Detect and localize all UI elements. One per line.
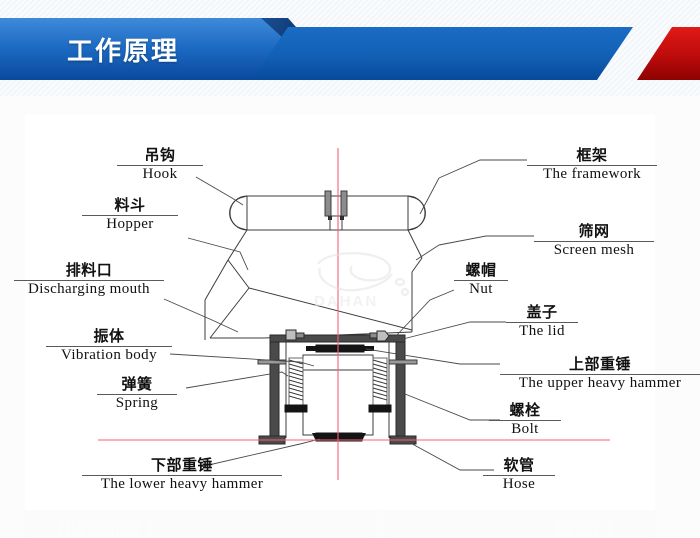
label-discharging-mouth-cn: 排料口 (14, 263, 164, 278)
footer-ghost-left: 出料口阀门 (58, 514, 153, 538)
label-hook-cn: 吊钩 (117, 148, 203, 163)
label-lid: 盖子 The lid (506, 305, 578, 339)
nut-left (286, 330, 304, 340)
page-root: 工作原理 (0, 0, 700, 538)
label-lid-cn: 盖子 (506, 305, 578, 320)
label-vibration-body: 振体 Vibration body (46, 329, 172, 363)
label-bolt-en: Bolt (489, 422, 561, 437)
label-hook-en: Hook (117, 167, 203, 182)
label-framework-en: The framework (527, 167, 657, 182)
label-nut-en: Nut (454, 282, 508, 297)
label-hose-cn: 软管 (483, 458, 555, 473)
label-lid-en: The lid (506, 324, 578, 339)
label-hopper-cn: 料斗 (82, 198, 178, 213)
label-lower-heavy-hammer-cn: 下部重锤 (82, 458, 282, 473)
label-hopper-en: Hopper (82, 217, 178, 232)
label-hook: 吊钩 Hook (117, 148, 203, 182)
label-framework: 框架 The framework (527, 148, 657, 182)
label-bolt-cn: 螺栓 (489, 403, 561, 418)
label-upper-heavy-hammer-cn: 上部重锤 (500, 357, 700, 372)
label-framework-cn: 框架 (527, 148, 657, 163)
label-discharging-mouth: 排料口 Discharging mouth (14, 263, 164, 297)
label-hopper: 料斗 Hopper (82, 198, 178, 232)
footer-ghost-right: 检查门 (555, 514, 612, 538)
label-lower-heavy-hammer: 下部重锤 The lower heavy hammer (82, 458, 282, 492)
hook-assembly (325, 191, 347, 230)
label-spring: 弹簧 Spring (97, 377, 177, 411)
label-screen-mesh-cn: 筛网 (534, 224, 654, 239)
upper-hammer-part (316, 345, 364, 352)
label-hose-en: Hose (483, 477, 555, 492)
label-screen-mesh-en: Screen mesh (534, 243, 654, 258)
page-title: 工作原理 (67, 31, 179, 68)
footer-strip-right (385, 510, 655, 538)
label-upper-heavy-hammer: 上部重锤 The upper heavy hammer (500, 357, 700, 391)
label-bolt: 螺栓 Bolt (489, 403, 561, 437)
label-spring-en: Spring (97, 396, 177, 411)
label-lower-heavy-hammer-en: The lower heavy hammer (82, 477, 282, 492)
label-discharging-mouth-en: Discharging mouth (14, 282, 164, 297)
hopper-funnel (205, 230, 422, 340)
label-vibration-body-cn: 振体 (46, 329, 172, 344)
label-upper-heavy-hammer-en: The upper heavy hammer (500, 376, 700, 391)
label-vibration-body-en: Vibration body (46, 348, 172, 363)
label-screen-mesh: 筛网 Screen mesh (534, 224, 654, 258)
label-nut-cn: 螺帽 (454, 263, 508, 278)
label-spring-cn: 弹簧 (97, 377, 177, 392)
label-nut: 螺帽 Nut (454, 263, 508, 297)
label-hose: 软管 Hose (483, 458, 555, 492)
bolt-right (389, 360, 417, 364)
